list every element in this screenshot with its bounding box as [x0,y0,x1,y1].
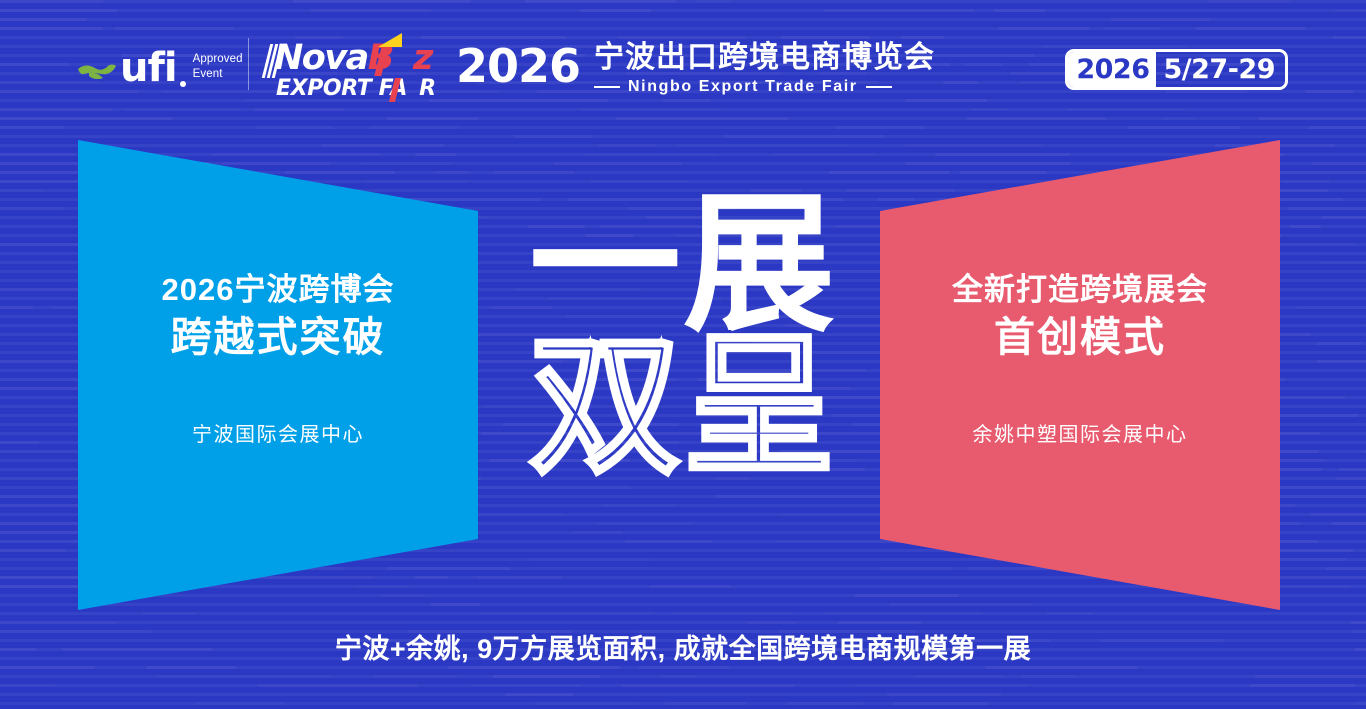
novabiz-r-text: R [419,76,436,101]
ufi-logo: ufi Approved Event [76,46,243,90]
novabiz-logo: NovaBz EXPORT FAR [266,38,426,102]
novabiz-z-text: z [413,38,432,78]
panel-left-line2: 跨越式突破 [171,312,386,362]
novabiz-wordmark-bottom: EXPORT FAR [276,76,436,102]
fair-title: 2026 宁波出口跨境电商博览会 Ningbo Export Trade Fai… [456,40,935,96]
ufi-dot-icon [180,81,186,87]
panel-ningbo: 2026宁波跨博会 跨越式突破 宁波国际会展中心 [78,140,478,610]
novabiz-export-fa-text: EXPORT FA [276,76,407,101]
hero-line-outline: 双呈 [529,328,837,486]
panel-yuyao: 全新打造跨境展会 首创模式 余姚中塑国际会展中心 [880,140,1280,610]
promo-banner: ufi Approved Event NovaBz EXPORT FAR [0,0,1366,709]
ufi-leaf-icon [76,60,118,82]
novabiz-nova-text: Nova [274,38,368,78]
novabiz-wordmark-top: NovaBz [274,38,432,78]
date-badge: 2026 5/27-29 [1065,49,1288,90]
fair-title-english: Ningbo Export Trade Fair [628,78,858,96]
date-badge-range: 5/27-29 [1156,52,1285,87]
banner-header: ufi Approved Event NovaBz EXPORT FAR [0,0,1366,122]
fair-title-year: 2026 [456,40,580,92]
header-divider [248,38,249,90]
panel-right-line1: 全新打造跨境展会 [952,272,1208,308]
panel-right-venue: 余姚中塑国际会展中心 [973,422,1188,448]
ufi-approved-line2: Event [193,68,243,83]
bottom-tagline: 宁波+余姚, 9万方展览面积, 成就全国跨境电商规模第一展 [0,627,1366,666]
panel-right-line2: 首创模式 [994,312,1166,362]
panel-left-content: 2026宁波跨博会 跨越式突破 宁波国际会展中心 [78,140,478,709]
fair-title-chinese: 宁波出口跨境电商博览会 [594,41,935,75]
rule-right [866,86,892,88]
ufi-approved-event-text: Approved Event [193,53,243,83]
novabiz-yellow-triangle-icon [378,33,402,47]
panel-right-content: 全新打造跨境展会 首创模式 余姚中塑国际会展中心 [880,140,1280,709]
ufi-approved-line1: Approved [193,53,243,68]
fair-title-english-row: Ningbo Export Trade Fair [594,78,935,96]
panel-left-venue: 宁波国际会展中心 [192,422,364,448]
hero-line-solid: 一展 [529,186,837,344]
date-badge-year: 2026 [1068,52,1156,87]
rule-left [594,86,620,88]
panel-left-line1: 2026宁波跨博会 [162,272,395,308]
fair-title-text-group: 宁波出口跨境电商博览会 Ningbo Export Trade Fair [594,40,935,96]
ufi-wordmark: ufi [120,48,177,88]
